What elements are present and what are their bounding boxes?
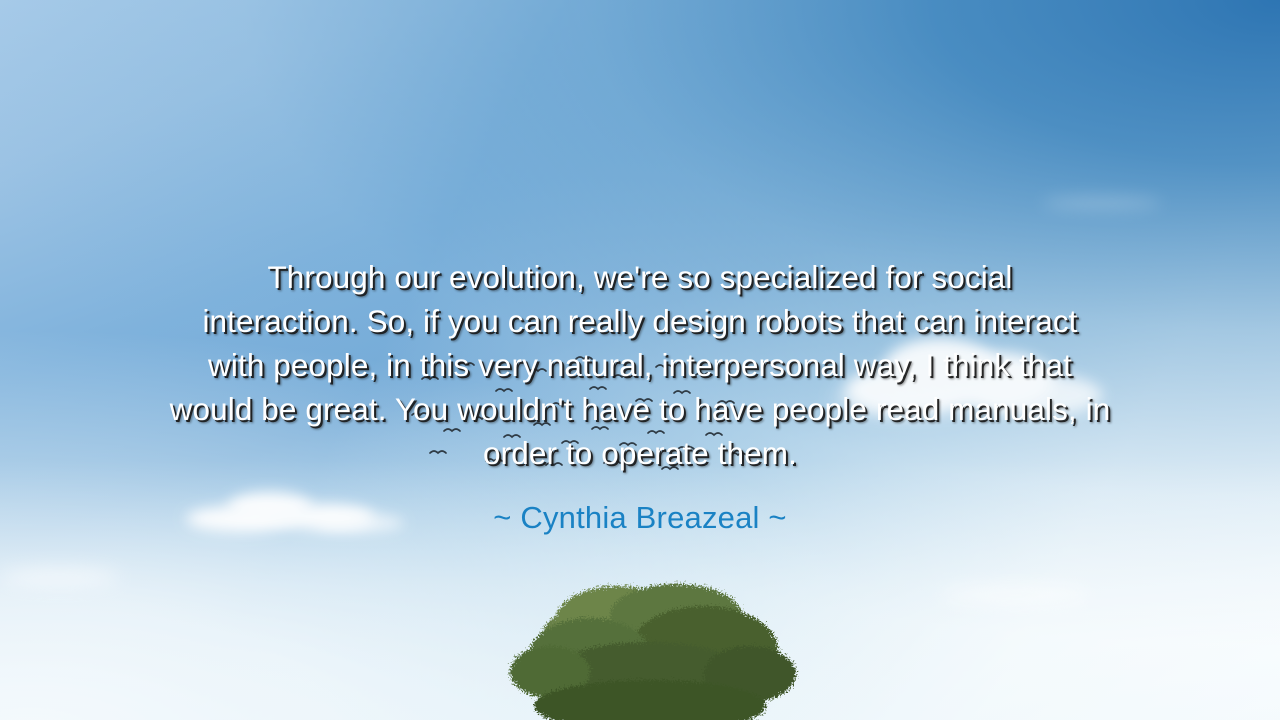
quote-card: Through our evolution, we're so speciali… xyxy=(0,0,1280,720)
author-attribution: ~ Cynthia Breazeal ~ xyxy=(190,498,1090,538)
quote-text: Through our evolution, we're so speciali… xyxy=(80,255,1200,475)
quote-container: Through our evolution, we're so speciali… xyxy=(80,255,1200,475)
author-container: ~ Cynthia Breazeal ~ xyxy=(190,498,1090,538)
